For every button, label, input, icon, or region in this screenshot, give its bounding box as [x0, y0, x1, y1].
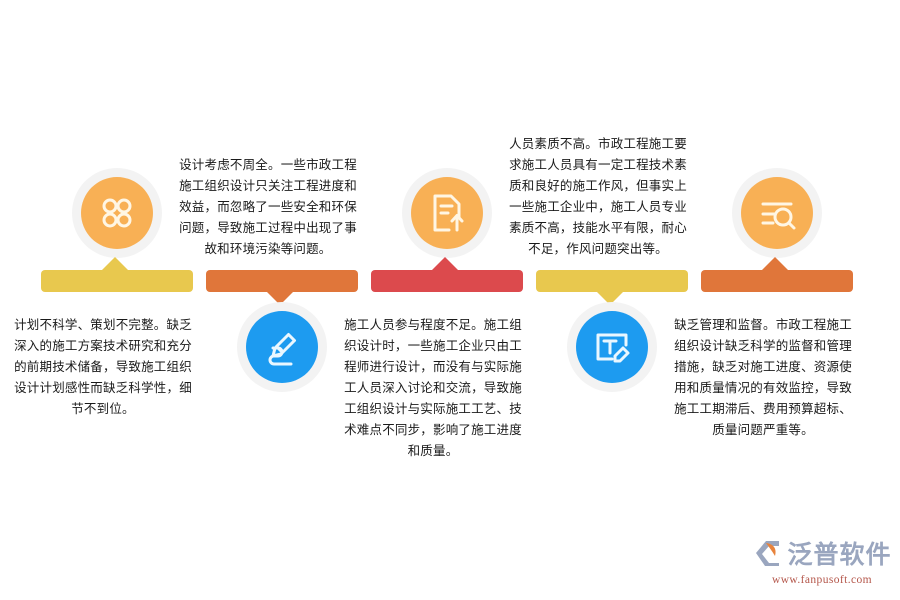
- icon-bubble-2: [237, 302, 327, 392]
- infographic-column-2: 设计考虑不周全。一些市政工程施工组织设计只关注工程进度和效益，而忽略了一些安全和…: [178, 0, 358, 600]
- infographic-column-5: 缺乏管理和监督。市政工程施工组织设计缺乏科学的监督和管理措施，缺乏对施工进度、资…: [673, 0, 853, 600]
- arrow-up-icon-1: [101, 257, 129, 271]
- bar-5: [701, 270, 853, 292]
- connector-bar-2: [206, 270, 358, 292]
- bar-3: [371, 270, 523, 292]
- icon-bubble-3: [402, 168, 492, 258]
- connector-bar-3: [371, 270, 523, 292]
- bar-4: [536, 270, 688, 292]
- connector-bar-5: [701, 270, 853, 292]
- text-edit-icon: [576, 311, 648, 383]
- arrow-up-icon-3: [431, 257, 459, 271]
- bar-1: [41, 270, 193, 292]
- bar-2: [206, 270, 358, 292]
- description-text-2: 设计考虑不周全。一些市政工程施工组织设计只关注工程进度和效益，而忽略了一些安全和…: [178, 155, 358, 260]
- pencil-edit-icon: [246, 311, 318, 383]
- four-dots-icon: [81, 177, 153, 249]
- icon-bubble-4: [567, 302, 657, 392]
- infographic-column-4: 人员素质不高。市政工程施工要求施工人员具有一定工程技术素质和良好的施工作风，但事…: [508, 0, 688, 600]
- infographic-column-3: 施工人员参与程度不足。施工组织设计时，一些施工企业只由工程师进行设计，而没有与实…: [343, 0, 523, 600]
- description-text-5: 缺乏管理和监督。市政工程施工组织设计缺乏科学的监督和管理措施，缺乏对施工进度、资…: [673, 315, 853, 441]
- infographic-column-1: 计划不科学、策划不完整。缺乏深入的施工方案技术研究和充分的前期技术储备，导致施工…: [13, 0, 193, 600]
- logo-lockup: 泛普软件: [752, 539, 891, 572]
- infographic-canvas: 计划不科学、策划不完整。缺乏深入的施工方案技术研究和充分的前期技术储备，导致施工…: [0, 0, 900, 600]
- connector-bar-4: [536, 270, 688, 292]
- document-upload-icon: [411, 177, 483, 249]
- icon-bubble-5: [732, 168, 822, 258]
- list-search-icon: [741, 177, 813, 249]
- fanpu-logo-icon: [752, 539, 782, 572]
- description-text-4: 人员素质不高。市政工程施工要求施工人员具有一定工程技术素质和良好的施工作风，但事…: [508, 134, 688, 260]
- icon-bubble-1: [72, 168, 162, 258]
- arrow-up-icon-5: [761, 257, 789, 271]
- connector-bar-1: [41, 270, 193, 292]
- brand-watermark: 泛普软件 www.fanpusoft.com: [752, 537, 892, 589]
- logo-url: www.fanpusoft.com: [772, 575, 872, 587]
- description-text-1: 计划不科学、策划不完整。缺乏深入的施工方案技术研究和充分的前期技术储备，导致施工…: [13, 315, 193, 420]
- description-text-3: 施工人员参与程度不足。施工组织设计时，一些施工企业只由工程师进行设计，而没有与实…: [343, 315, 523, 462]
- logo-wordmark: 泛普软件: [787, 543, 891, 568]
